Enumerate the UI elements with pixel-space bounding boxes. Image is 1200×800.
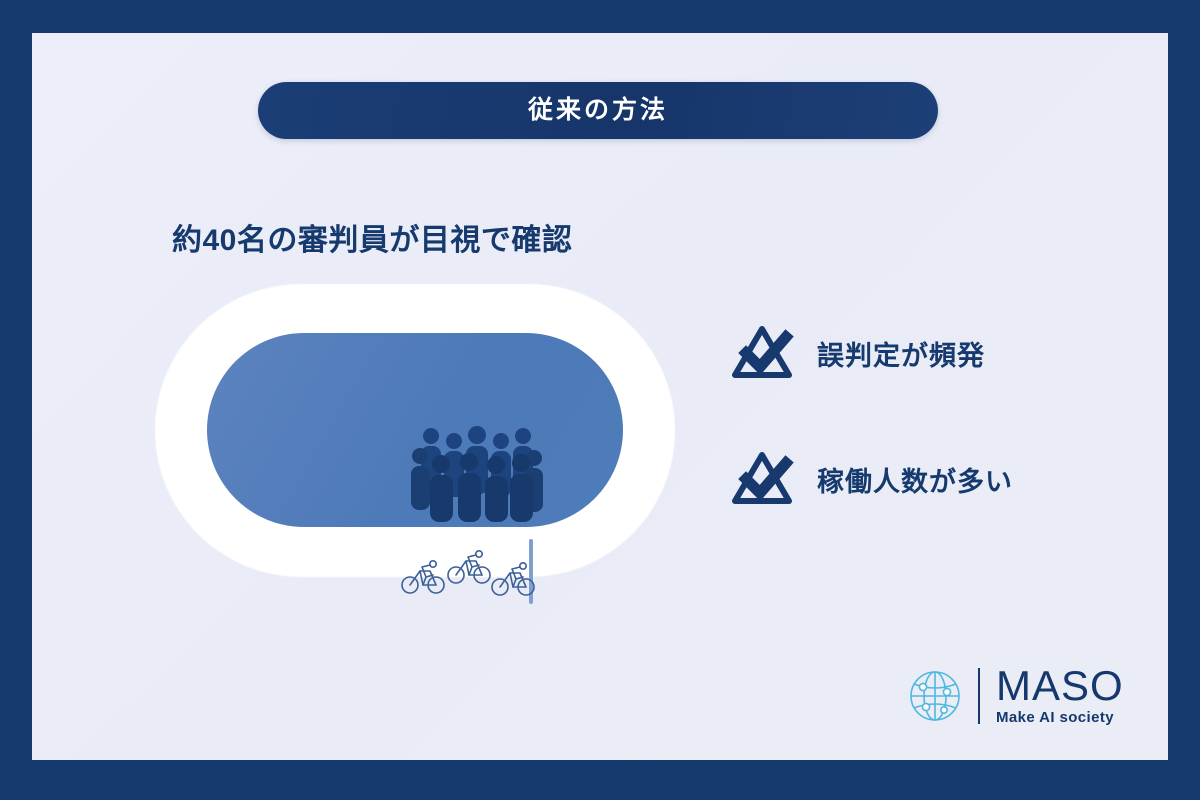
logo-wordmark: MASO	[996, 665, 1124, 706]
section-heading: 約40名の審判員が目視で確認	[172, 215, 572, 259]
network-globe-icon	[904, 665, 966, 727]
issue-list: 誤判定が頻発 稼働人数が多い	[729, 313, 1109, 565]
slide-title-banner: 従来の方法	[258, 82, 938, 139]
slide-title-text: 従来の方法	[528, 98, 668, 123]
logo-tagline: Make AI society	[996, 709, 1124, 727]
slide-panel: 従来の方法 約40名の審判員が目視で確認	[32, 33, 1168, 760]
logo-text-block: MASO Make AI society	[996, 665, 1124, 727]
list-item: 稼働人数が多い	[729, 439, 1109, 519]
logo-divider	[978, 668, 980, 724]
slide-outer-frame: 従来の方法 約40名の審判員が目視で確認	[0, 0, 1200, 800]
list-item: 誤判定が頻発	[729, 313, 1109, 393]
brand-logo: MASO Make AI society	[904, 665, 1124, 727]
triangle-check-icon	[729, 320, 795, 386]
cyclist-icon-group	[400, 549, 545, 599]
judges-crowd-icon	[411, 422, 543, 522]
velodrome-illustration	[125, 284, 645, 584]
list-item-label: 誤判定が頻発	[817, 334, 985, 373]
triangle-check-icon	[729, 446, 795, 512]
list-item-label: 稼働人数が多い	[817, 460, 1013, 499]
